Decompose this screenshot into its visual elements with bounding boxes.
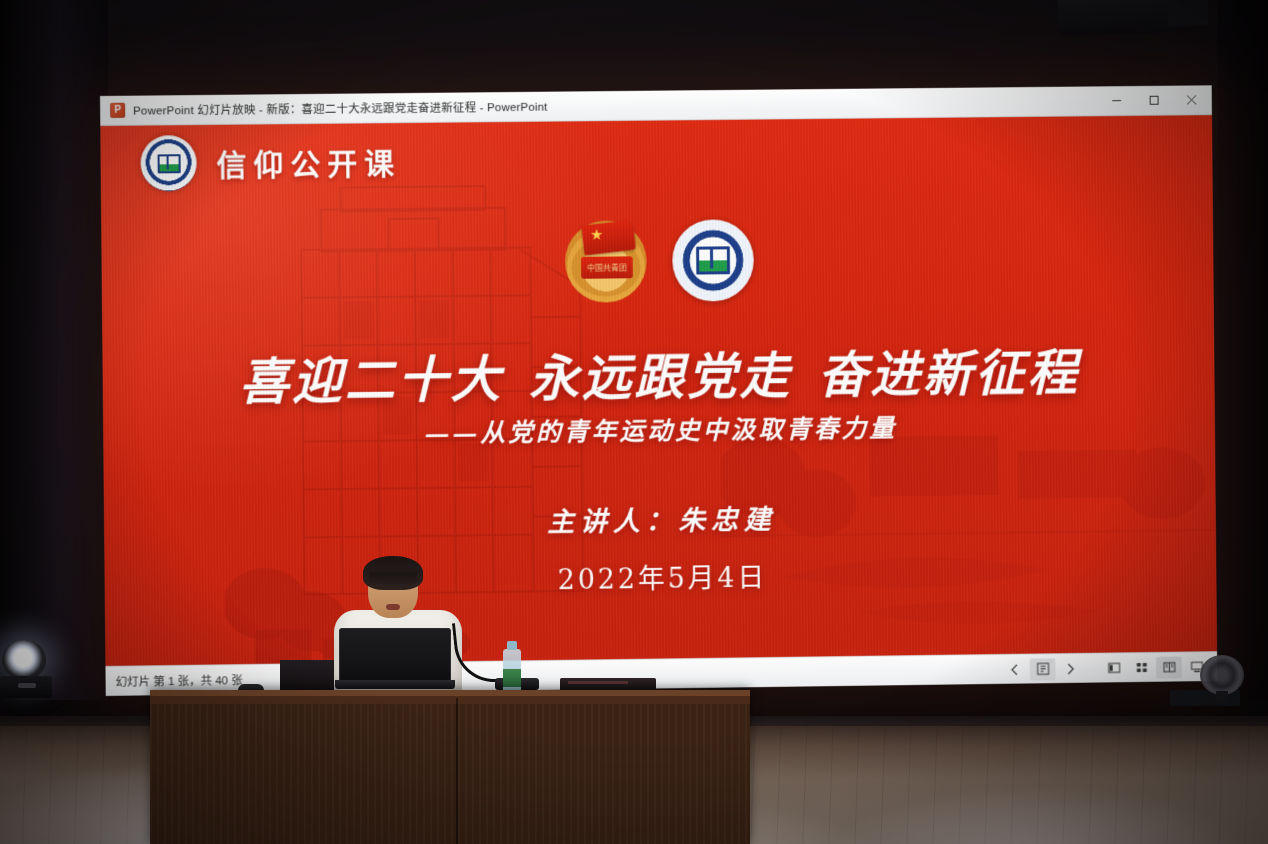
wall-panel-right	[1218, 0, 1268, 700]
window-title: PowerPoint 幻灯片放映 - 新版：喜迎二十大永远跟党走奋进新征程 - …	[133, 93, 1090, 118]
water-bottle	[503, 641, 521, 693]
university-round-emblem	[672, 219, 754, 302]
communist-youth-league-emblem	[565, 220, 647, 303]
reading-view-button[interactable]	[1156, 656, 1182, 678]
close-button[interactable]	[1172, 86, 1210, 114]
slide-header: 信仰公开课	[140, 133, 401, 192]
ceiling-rig	[1058, 0, 1178, 36]
gooseneck-microphone	[455, 620, 535, 692]
slide-header-title: 信仰公开课	[216, 139, 401, 185]
window-controls	[1097, 86, 1210, 115]
previous-slide-button[interactable]	[1002, 658, 1028, 680]
emblem-row	[101, 214, 1213, 308]
university-seal-logo	[140, 135, 196, 192]
wall-panel-left	[0, 0, 108, 700]
restore-button[interactable]	[1135, 86, 1173, 114]
next-slide-button[interactable]	[1057, 657, 1083, 679]
title-segment-1: 喜迎二十大	[239, 349, 504, 411]
ceiling-rig-secondary	[1168, 0, 1208, 27]
stage-spotlight	[0, 640, 52, 698]
projection-screen: PowerPoint 幻灯片放映 - 新版：喜迎二十大永远跟党走奋进新征程 - …	[100, 85, 1217, 696]
floor-fan	[1200, 655, 1246, 701]
title-segment-2: 永远跟党走	[529, 346, 793, 408]
powerpoint-icon	[110, 103, 125, 118]
title-segment-3: 奋进新征程	[817, 343, 1080, 405]
notes-button[interactable]	[1030, 658, 1056, 680]
slide-count-label: 幻灯片 第 1 张，共 40 张	[116, 672, 243, 690]
slide-sorter-view-button[interactable]	[1128, 656, 1154, 678]
statusbar-buttons	[1002, 656, 1209, 681]
auditorium-scene: PowerPoint 幻灯片放映 - 新版：喜迎二十大永远跟党走奋进新征程 - …	[0, 0, 1268, 844]
minimize-button[interactable]	[1097, 87, 1135, 115]
slide-canvas: 信仰公开课 喜迎二十大永远跟党走奋进新征程 ——从党的青年运动史中汲取青春力量	[100, 115, 1217, 666]
wooden-podium	[150, 690, 750, 844]
normal-view-button[interactable]	[1101, 657, 1127, 679]
slide-main-title: 喜迎二十大永远跟党走奋进新征程	[102, 332, 1214, 416]
laptop-computer	[335, 628, 455, 690]
